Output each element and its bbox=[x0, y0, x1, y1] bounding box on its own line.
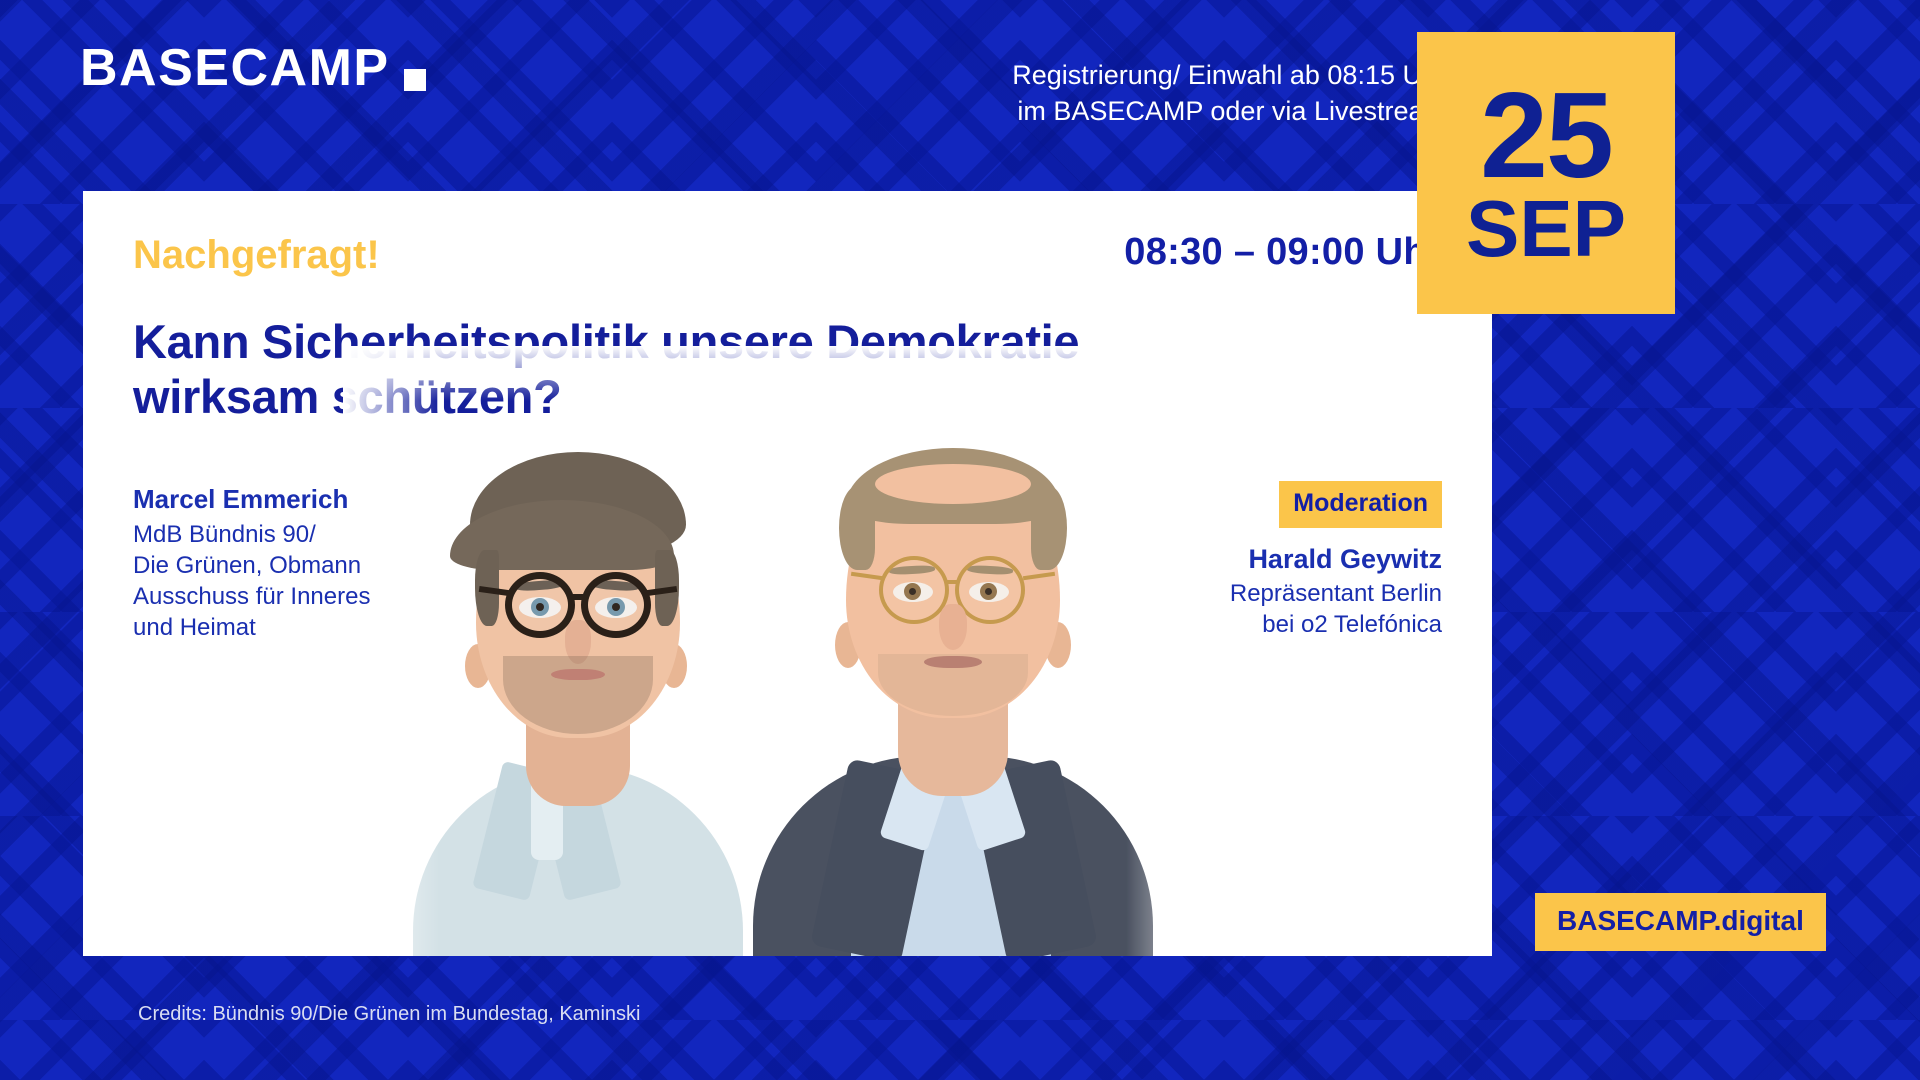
logo-square-dot-icon bbox=[404, 69, 426, 91]
glasses-left-lens bbox=[505, 572, 575, 638]
moderation-badge: Moderation bbox=[1279, 481, 1442, 528]
speaker-left-role-line4: und Heimat bbox=[133, 612, 393, 643]
registration-note: Registrierung/ Einwahl ab 08:15 Uhr im B… bbox=[826, 58, 1446, 130]
portrait-marcel-emmerich bbox=[383, 366, 773, 956]
event-kicker: Nachgefragt! bbox=[133, 233, 380, 278]
glasses-right-lens bbox=[581, 572, 651, 638]
basecamp-logo[interactable]: BASECAMP bbox=[80, 42, 426, 94]
speaker-right-role-line1: Repräsentant Berlin bbox=[1142, 578, 1442, 609]
date-badge-day: 25 bbox=[1480, 79, 1612, 191]
registration-note-line2: im BASECAMP oder via Livestream bbox=[826, 94, 1446, 130]
event-card: Nachgefragt! 08:30 – 09:00 Uhr Kann Sich… bbox=[83, 191, 1492, 956]
speaker-left-role-line3: Ausschuss für Inneres bbox=[133, 581, 393, 612]
speaker-right-role-line2: bei o2 Telefónica bbox=[1142, 609, 1442, 640]
logo-wordmark: BASECAMP bbox=[80, 42, 390, 94]
speaker-info-left: Marcel Emmerich MdB Bündnis 90/ Die Grün… bbox=[133, 483, 393, 644]
basecamp-digital-badge[interactable]: BASECAMP.digital bbox=[1535, 893, 1826, 951]
portrait-harald-geywitz bbox=[743, 356, 1163, 956]
date-badge-month: SEP bbox=[1466, 191, 1626, 267]
event-time: 08:30 – 09:00 Uhr bbox=[1124, 231, 1442, 274]
speaker-photos bbox=[383, 356, 1183, 956]
speaker-right-name: Harald Geywitz bbox=[1142, 542, 1442, 577]
date-badge: 25 SEP bbox=[1417, 32, 1675, 314]
registration-note-line1: Registrierung/ Einwahl ab 08:15 Uhr bbox=[826, 58, 1446, 94]
speaker-left-role-line2: Die Grünen, Obmann bbox=[133, 550, 393, 581]
credits-text: Credits: Bündnis 90/Die Grünen im Bundes… bbox=[138, 1003, 640, 1026]
speaker-left-name: Marcel Emmerich bbox=[133, 483, 393, 517]
speaker-left-role-line1: MdB Bündnis 90/ bbox=[133, 519, 393, 550]
glasses-left-lens bbox=[879, 556, 949, 624]
speaker-info-right: Moderation Harald Geywitz Repräsentant B… bbox=[1142, 481, 1442, 640]
